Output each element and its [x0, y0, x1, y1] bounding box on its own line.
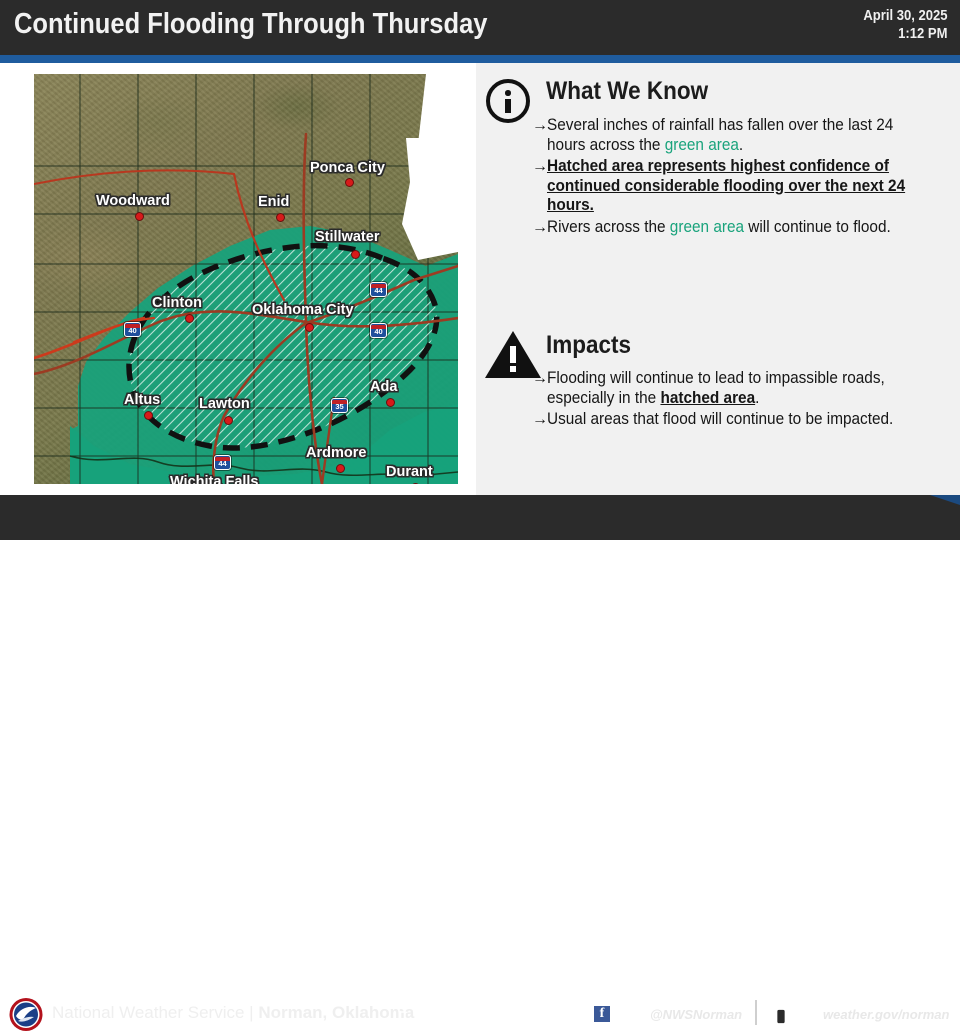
text-run: .	[739, 136, 743, 154]
city-marker-dot	[351, 250, 360, 259]
issue-time: 1:12 PM	[863, 25, 947, 43]
arrow-icon: →	[532, 157, 547, 216]
hatched-area-term: hatched area	[660, 389, 755, 407]
oklahoma-outline-icon	[396, 995, 466, 1033]
text-run: Hatched area represents highest confiden…	[547, 157, 905, 214]
info-circle-icon	[486, 79, 530, 123]
arrow-icon: →	[532, 410, 547, 430]
bullet-text: Rivers across the green area will contin…	[547, 218, 924, 238]
city-marker-dot	[336, 464, 345, 473]
bullet-item: →Usual areas that flood will continue to…	[532, 410, 952, 430]
city-marker-dot	[144, 411, 153, 420]
map-panel: Ponca CityWoodwardEnidStillwaterClintonO…	[0, 63, 470, 495]
issue-date: April 30, 2025	[863, 7, 947, 25]
city-marker-dot	[305, 323, 314, 332]
city-marker-dot	[224, 416, 233, 425]
interstate-shield: 44	[370, 282, 387, 297]
device-icon	[775, 1002, 815, 1026]
bullet-item: →Flooding will continue to lead to impas…	[532, 369, 952, 408]
nws-seal-icon	[7, 997, 45, 1032]
impacts-bullets: →Flooding will continue to lead to impas…	[532, 369, 952, 432]
footer-agency-line: National Weather Service | Norman, Oklah…	[52, 1003, 414, 1023]
footer-bar: National Weather Service | Norman, Oklah…	[0, 495, 960, 540]
map-vector-layer	[34, 74, 458, 484]
city-marker-dot	[386, 398, 395, 407]
what-we-know-heading: What We Know	[546, 77, 708, 106]
bullet-text: Usual areas that flood will continue to …	[547, 410, 924, 430]
arrow-icon: →	[532, 218, 547, 238]
interstate-shield: 40	[124, 322, 141, 337]
agency-name: National Weather Service	[52, 1003, 244, 1022]
social-handle[interactable]: @NWSNorman	[650, 1007, 742, 1022]
interstate-shield: 35	[331, 398, 348, 413]
flood-outlook-map[interactable]: Ponca CityWoodwardEnidStillwaterClintonO…	[34, 74, 458, 484]
facebook-icon[interactable]: f	[594, 1006, 610, 1022]
header-datetime: April 30, 2025 1:12 PM	[854, 7, 948, 43]
green-area-term: green area	[670, 218, 744, 236]
bullet-item: →Hatched area represents highest confide…	[532, 157, 952, 216]
header-bar: Continued Flooding Through Thursday Apri…	[0, 0, 960, 55]
interstate-shield: 44	[214, 455, 231, 470]
footer-divider	[755, 1000, 757, 1025]
bullet-item: →Several inches of rainfall has fallen o…	[532, 116, 952, 155]
impacts-heading: Impacts	[546, 331, 631, 360]
map-right-clip	[402, 138, 458, 260]
x-twitter-icon[interactable]	[621, 1004, 641, 1024]
what-we-know-bullets: →Several inches of rainfall has fallen o…	[532, 116, 952, 239]
footer-separator: |	[244, 1003, 258, 1022]
header-accent-rule	[0, 55, 960, 63]
city-marker-dot	[276, 213, 285, 222]
interstate-shield: 40	[370, 323, 387, 338]
page-title: Continued Flooding Through Thursday	[14, 8, 487, 41]
map-corner-clip	[418, 74, 458, 144]
bullet-item: →Rivers across the green area will conti…	[532, 218, 952, 238]
city-marker-dot	[345, 178, 354, 187]
text-run: will continue to flood.	[744, 218, 891, 236]
bullet-text: Flooding will continue to lead to impass…	[547, 369, 924, 408]
text-run: Rivers across the	[547, 218, 670, 236]
bullet-text: Hatched area represents highest confiden…	[547, 157, 924, 216]
city-marker-dot	[185, 314, 194, 323]
arrow-icon: →	[532, 369, 547, 408]
green-area-term: green area	[665, 136, 739, 154]
office-name: Norman, Oklahoma	[258, 1003, 414, 1022]
city-marker-dot	[135, 212, 144, 221]
bullet-text: Several inches of rainfall has fallen ov…	[547, 116, 924, 155]
arrow-icon: →	[532, 116, 547, 155]
weather-graphic: Continued Flooding Through Thursday Apri…	[0, 0, 960, 540]
content-panel: What We Know →Several inches of rainfall…	[476, 63, 960, 495]
text-run: .	[755, 389, 759, 407]
website-url[interactable]: weather.gov/norman	[823, 1007, 949, 1022]
text-run: Usual areas that flood will continue to …	[547, 410, 893, 428]
